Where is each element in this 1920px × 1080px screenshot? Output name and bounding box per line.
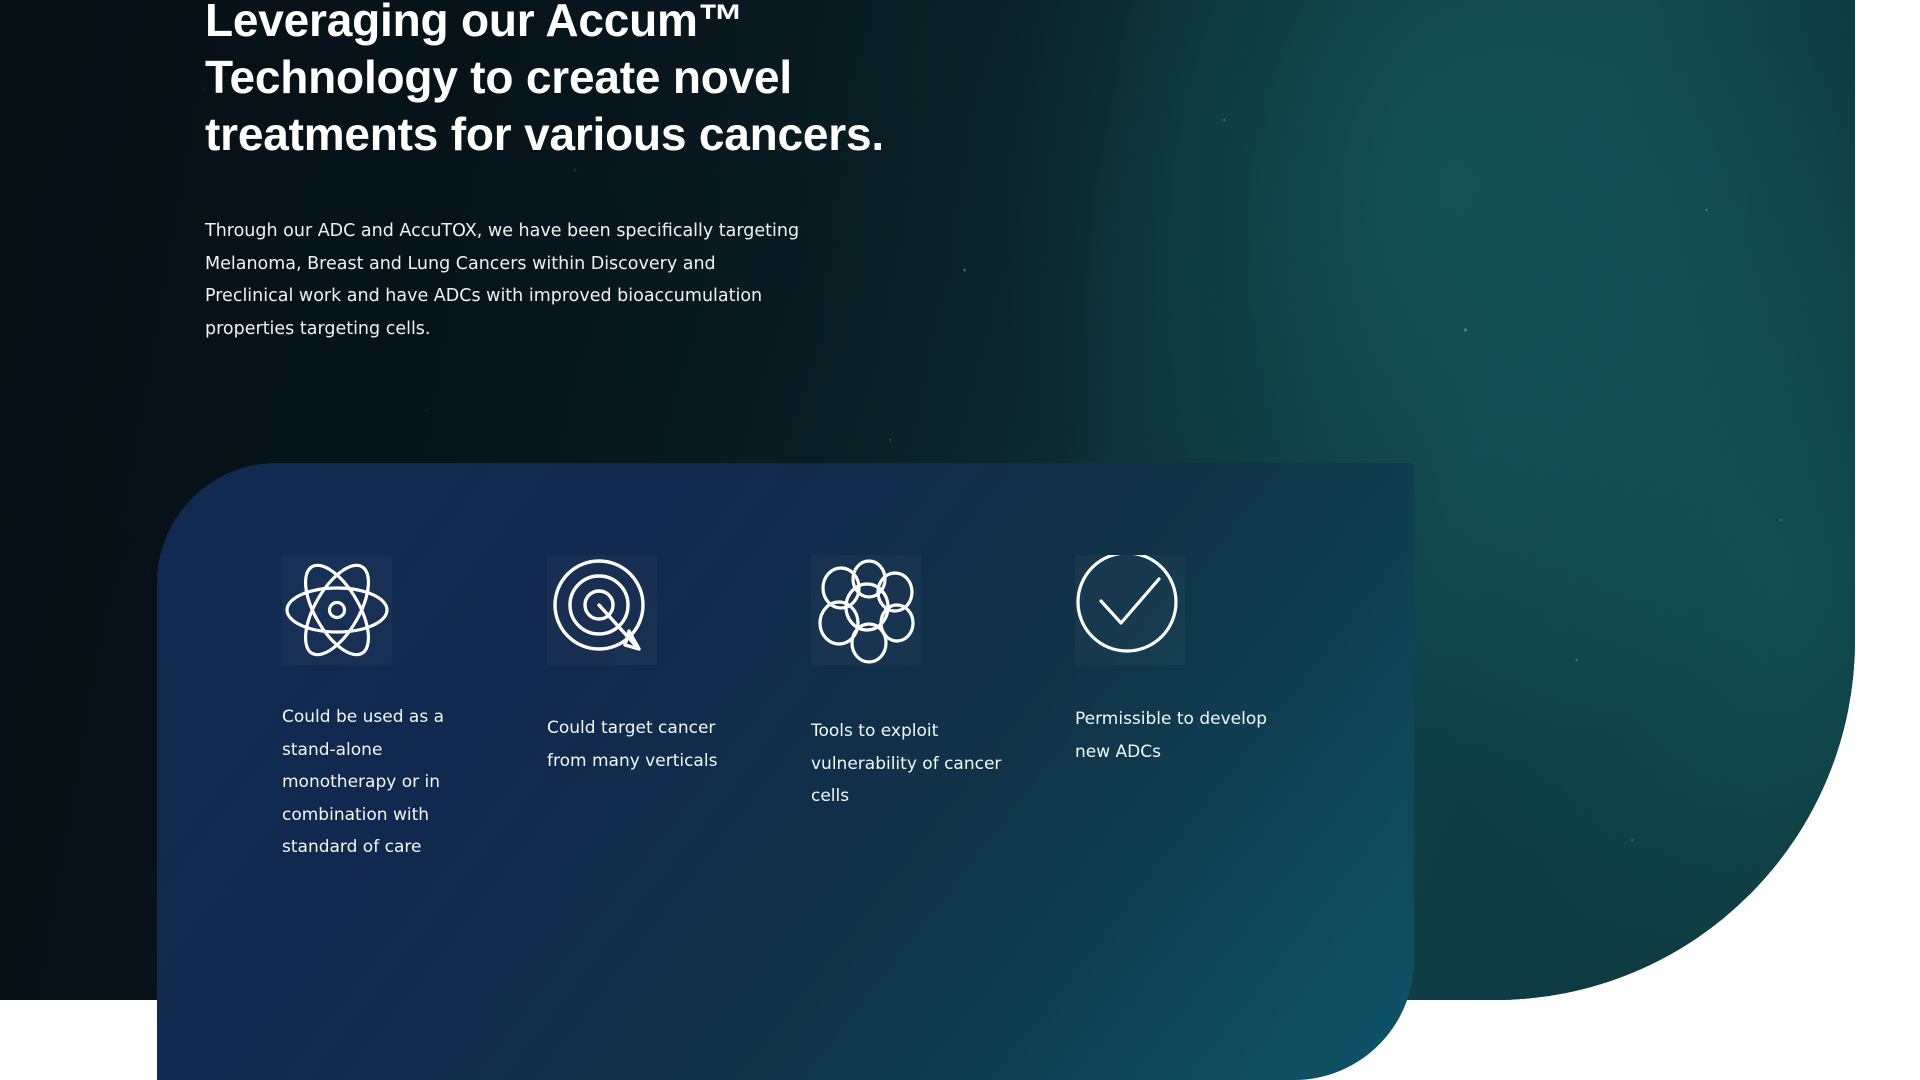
hero-copy-block: Leveraging our Accum™ Technology to crea…: [205, 0, 905, 345]
check-circle-icon: [1075, 555, 1185, 665]
feature-item-atom: Could be used as a stand-alone monothera…: [282, 555, 546, 864]
feature-item-cells: Tools to exploit vulnerability of cancer…: [811, 555, 1075, 864]
feature-item-check: Permissible to develop new ADCs: [1075, 555, 1339, 864]
feature-caption: Could target cancer from many verticals: [547, 712, 747, 777]
feature-item-target: Could target cancer from many verticals: [547, 555, 811, 864]
feature-caption: Could be used as a stand-alone monothera…: [282, 701, 482, 864]
feature-caption: Permissible to develop new ADCs: [1075, 703, 1275, 768]
page-root: Leveraging our Accum™ Technology to crea…: [0, 0, 1920, 1080]
target-icon: [547, 555, 657, 665]
page-title: Leveraging our Accum™ Technology to crea…: [205, 0, 905, 163]
feature-card: Could be used as a stand-alone monothera…: [157, 463, 1414, 1080]
cells-icon: [811, 555, 921, 665]
feature-grid: Could be used as a stand-alone monothera…: [282, 555, 1390, 864]
feature-caption: Tools to exploit vulnerability of cancer…: [811, 715, 1011, 813]
atom-icon: [282, 555, 392, 665]
hero-paragraph: Through our ADC and AccuTOX, we have bee…: [205, 215, 805, 345]
